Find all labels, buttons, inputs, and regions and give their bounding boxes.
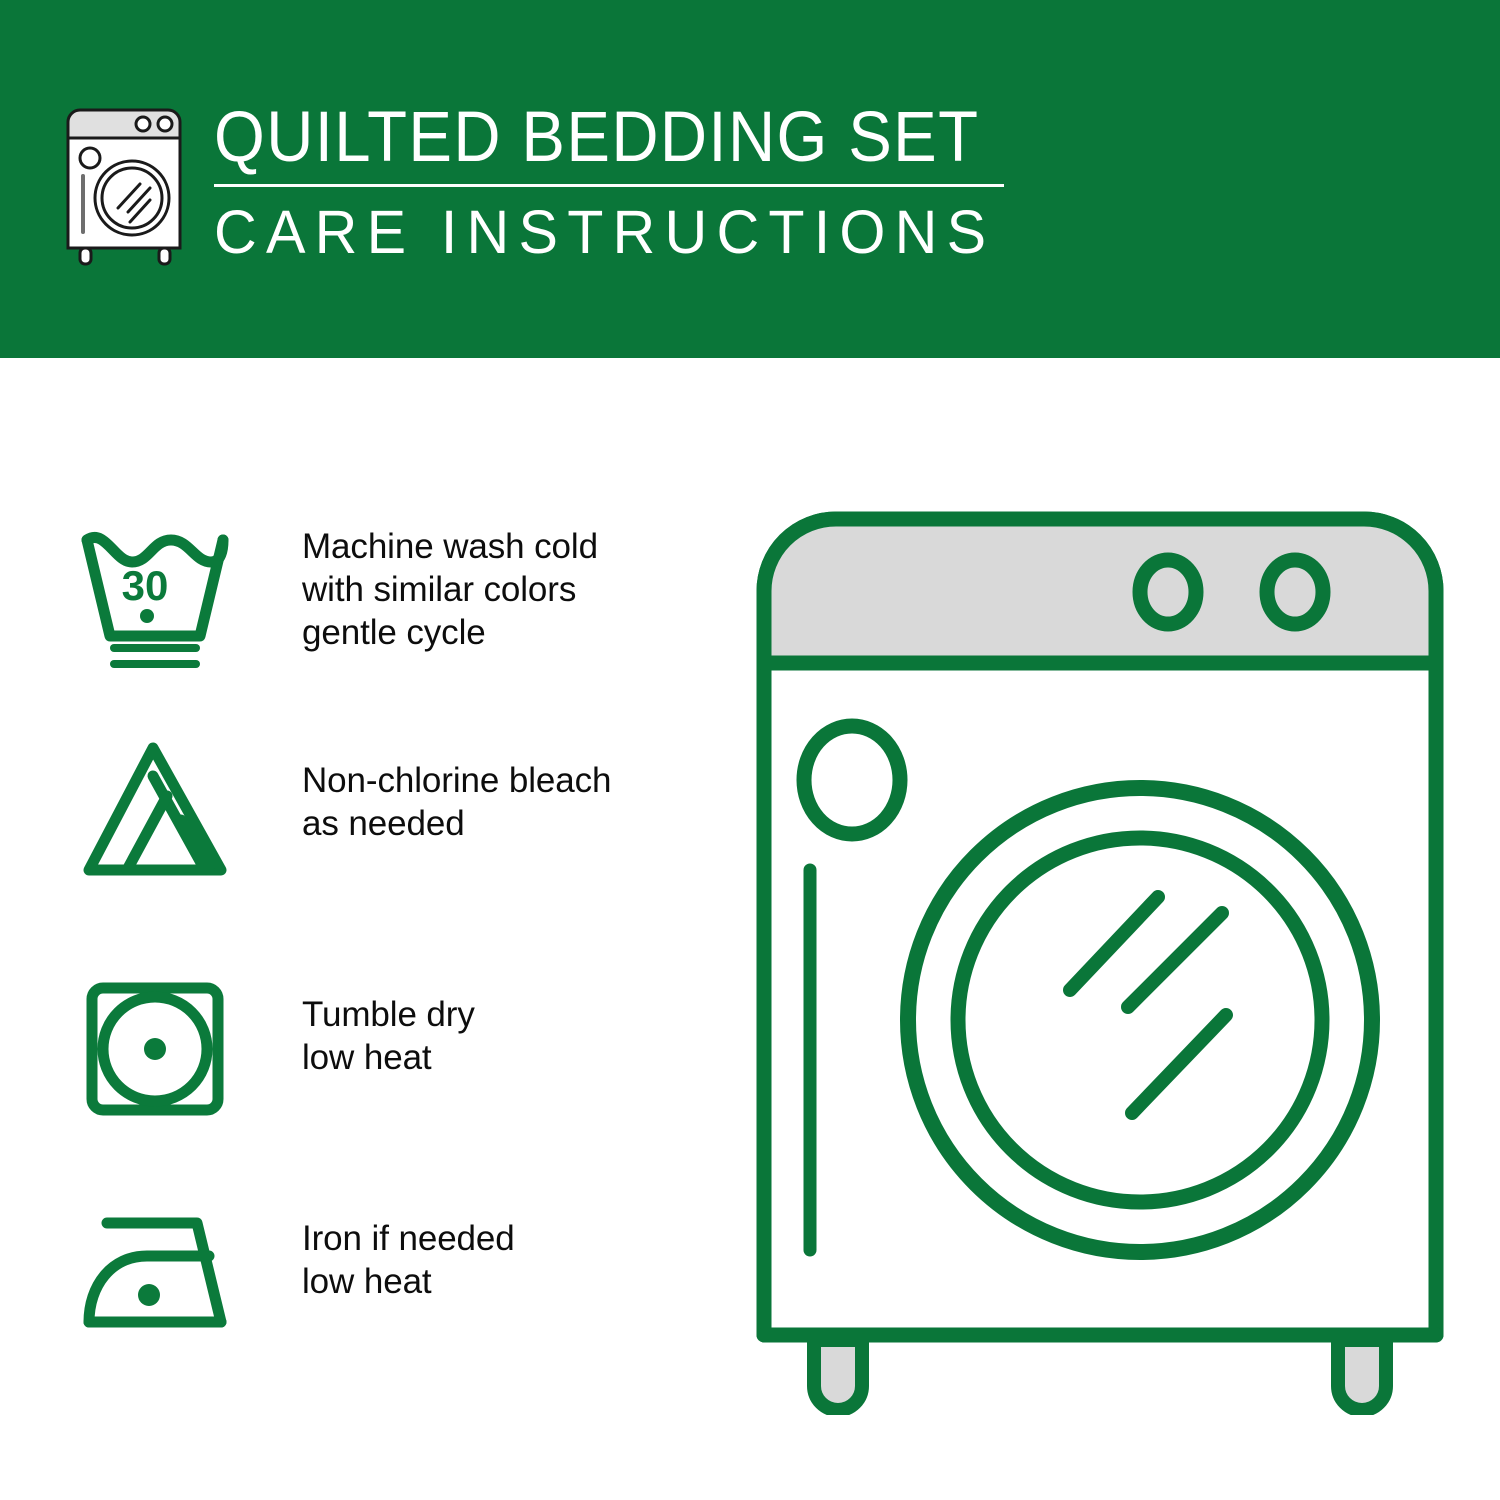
care-instruction-list: 30 Machine wash cold with similar colors… [0,358,720,1500]
care-text-iron: Iron if needed low heat [302,1217,702,1303]
care-text-line: low heat [302,1036,702,1079]
care-text-line: as needed [302,802,702,845]
care-text-line: low heat [302,1260,702,1303]
knob-right [1267,560,1323,624]
care-row-tumble-dry: Tumble dry low heat [0,964,720,1144]
page-subtitle: CARE INSTRUCTIONS [214,200,1000,264]
care-row-iron: Iron if needed low heat [0,1190,720,1370]
iron-low-heat-icon [75,1190,235,1350]
title-divider [214,184,1004,187]
header-band: QUILTED BEDDING SET CARE INSTRUCTIONS [0,0,1500,358]
care-row-bleach: Non-chlorine bleach as needed [0,730,720,910]
care-text-line: Tumble dry [302,993,702,1036]
leg-left [814,1340,862,1410]
detergent-drawer-circle [804,726,900,834]
page-title: QUILTED BEDDING SET [214,100,959,176]
care-text-line: Iron if needed [302,1217,702,1260]
care-text-line: with similar colors [302,568,702,611]
knob-left [1140,560,1196,624]
leg-right [1338,1340,1386,1410]
care-text-machine-wash: Machine wash cold with similar colors ge… [302,525,702,654]
washing-machine-icon [62,104,194,269]
drum-inner-circle [958,838,1322,1202]
header-text-block: QUILTED BEDDING SET CARE INSTRUCTIONS [214,100,1024,264]
care-text-line: gentle cycle [302,611,702,654]
bleach-triangle-nonchlorine-icon [75,730,235,890]
care-text-tumble-dry: Tumble dry low heat [302,993,702,1079]
care-row-machine-wash: 30 Machine wash cold with similar colors… [0,518,720,698]
front-load-washing-machine-illustration [740,495,1460,1415]
care-text-line: Non-chlorine bleach [302,759,702,802]
care-text-line: Machine wash cold [302,525,702,568]
wash-temperature-label: 30 [122,562,169,609]
care-instructions-page: QUILTED BEDDING SET CARE INSTRUCTIONS 30 [0,0,1500,1500]
care-text-bleach: Non-chlorine bleach as needed [302,759,702,845]
wash-tub-30-gentle-icon: 30 [75,518,235,678]
tumble-dry-low-heat-icon [75,964,235,1124]
